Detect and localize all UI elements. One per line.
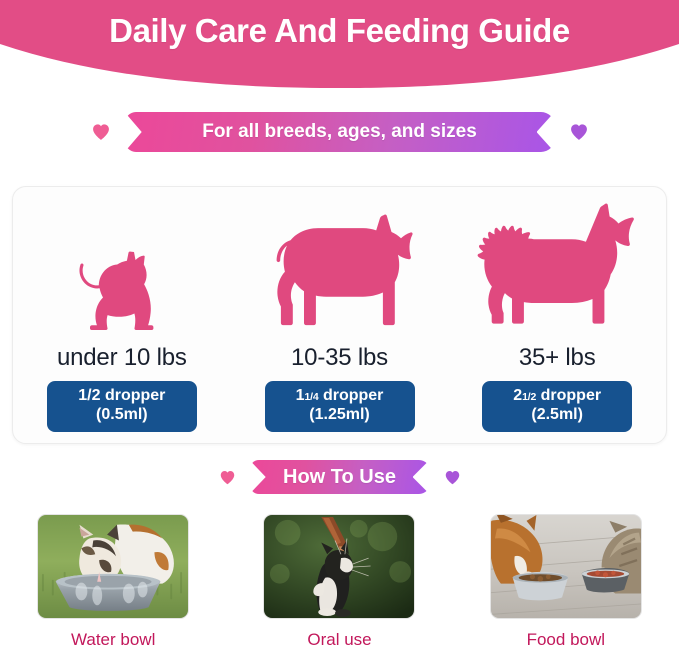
page-title: Daily Care And Feeding Guide [0, 12, 679, 50]
howto-photo-item: Oral use [226, 514, 452, 650]
dose-unit: dropper [323, 387, 383, 404]
howto-photo-item: Food bowl [453, 514, 679, 650]
dose-badge: 11/4 dropper (1.25ml) [265, 381, 415, 432]
cat-silhouette-icon [72, 245, 172, 337]
dosage-column-large: 35+ lbs 21/2 dropper (2.5ml) [448, 187, 666, 443]
dog-spitz-silhouette-wrap [472, 197, 642, 337]
water-bowl-photo [37, 514, 189, 619]
dosage-column-medium: 10-35 lbs 11/4 dropper (1.25ml) [231, 187, 449, 443]
subtitle-label: For all breeds, ages, and sizes [202, 121, 477, 143]
dosage-card: under 10 lbs 1/2 dropper (0.5ml) 10-35 l… [12, 186, 667, 444]
dose-unit: dropper [541, 387, 601, 404]
heart-icon [91, 122, 111, 142]
howto-banner: How To Use [0, 460, 679, 494]
weight-label: 10-35 lbs [291, 344, 388, 372]
food-bowl-photo-image [491, 515, 641, 618]
oral-use-photo-image [264, 515, 414, 618]
photo-caption: Food bowl [527, 630, 605, 650]
dose-amount: 11/4 dropper [281, 387, 399, 406]
dose-volume: (0.5ml) [63, 406, 181, 425]
dose-badge: 21/2 dropper (2.5ml) [482, 381, 632, 432]
dog-shiba-silhouette-wrap [264, 197, 416, 337]
water-bowl-photo-image [38, 515, 188, 618]
howto-label: How To Use [283, 466, 396, 489]
howto-photo-item: Water bowl [0, 514, 226, 650]
oral-use-photo [263, 514, 415, 619]
dose-fraction: 1/2 [522, 391, 536, 403]
dose-volume: (2.5ml) [498, 406, 616, 425]
photo-caption: Water bowl [71, 630, 155, 650]
heart-icon [444, 469, 461, 486]
dog-shiba-silhouette-icon [264, 211, 416, 337]
dose-badge: 1/2 dropper (0.5ml) [47, 381, 197, 432]
cat-silhouette-wrap [72, 197, 172, 337]
dose-whole-number: 1 [296, 387, 305, 404]
heart-icon [219, 469, 236, 486]
header-banner: Daily Care And Feeding Guide [0, 0, 679, 88]
dosage-column-small: under 10 lbs 1/2 dropper (0.5ml) [13, 187, 231, 443]
howto-photo-row: Water bowl [0, 514, 679, 650]
subtitle-ribbon: For all breeds, ages, and sizes [125, 112, 555, 152]
dose-fraction: 1/4 [305, 391, 319, 403]
food-bowl-photo [490, 514, 642, 619]
dose-whole-number: 2 [513, 387, 522, 404]
howto-ribbon: How To Use [250, 460, 430, 494]
subtitle-banner: For all breeds, ages, and sizes [0, 112, 679, 152]
heart-icon [569, 122, 589, 142]
weight-label: under 10 lbs [57, 344, 187, 372]
dog-spitz-silhouette-icon [472, 201, 642, 337]
dose-amount: 21/2 dropper [498, 387, 616, 406]
dose-amount: 1/2 dropper [63, 387, 181, 406]
photo-caption: Oral use [307, 630, 371, 650]
dose-volume: (1.25ml) [281, 406, 399, 425]
weight-label: 35+ lbs [519, 344, 596, 372]
infographic-page: Daily Care And Feeding Guide For all bre… [0, 0, 679, 669]
